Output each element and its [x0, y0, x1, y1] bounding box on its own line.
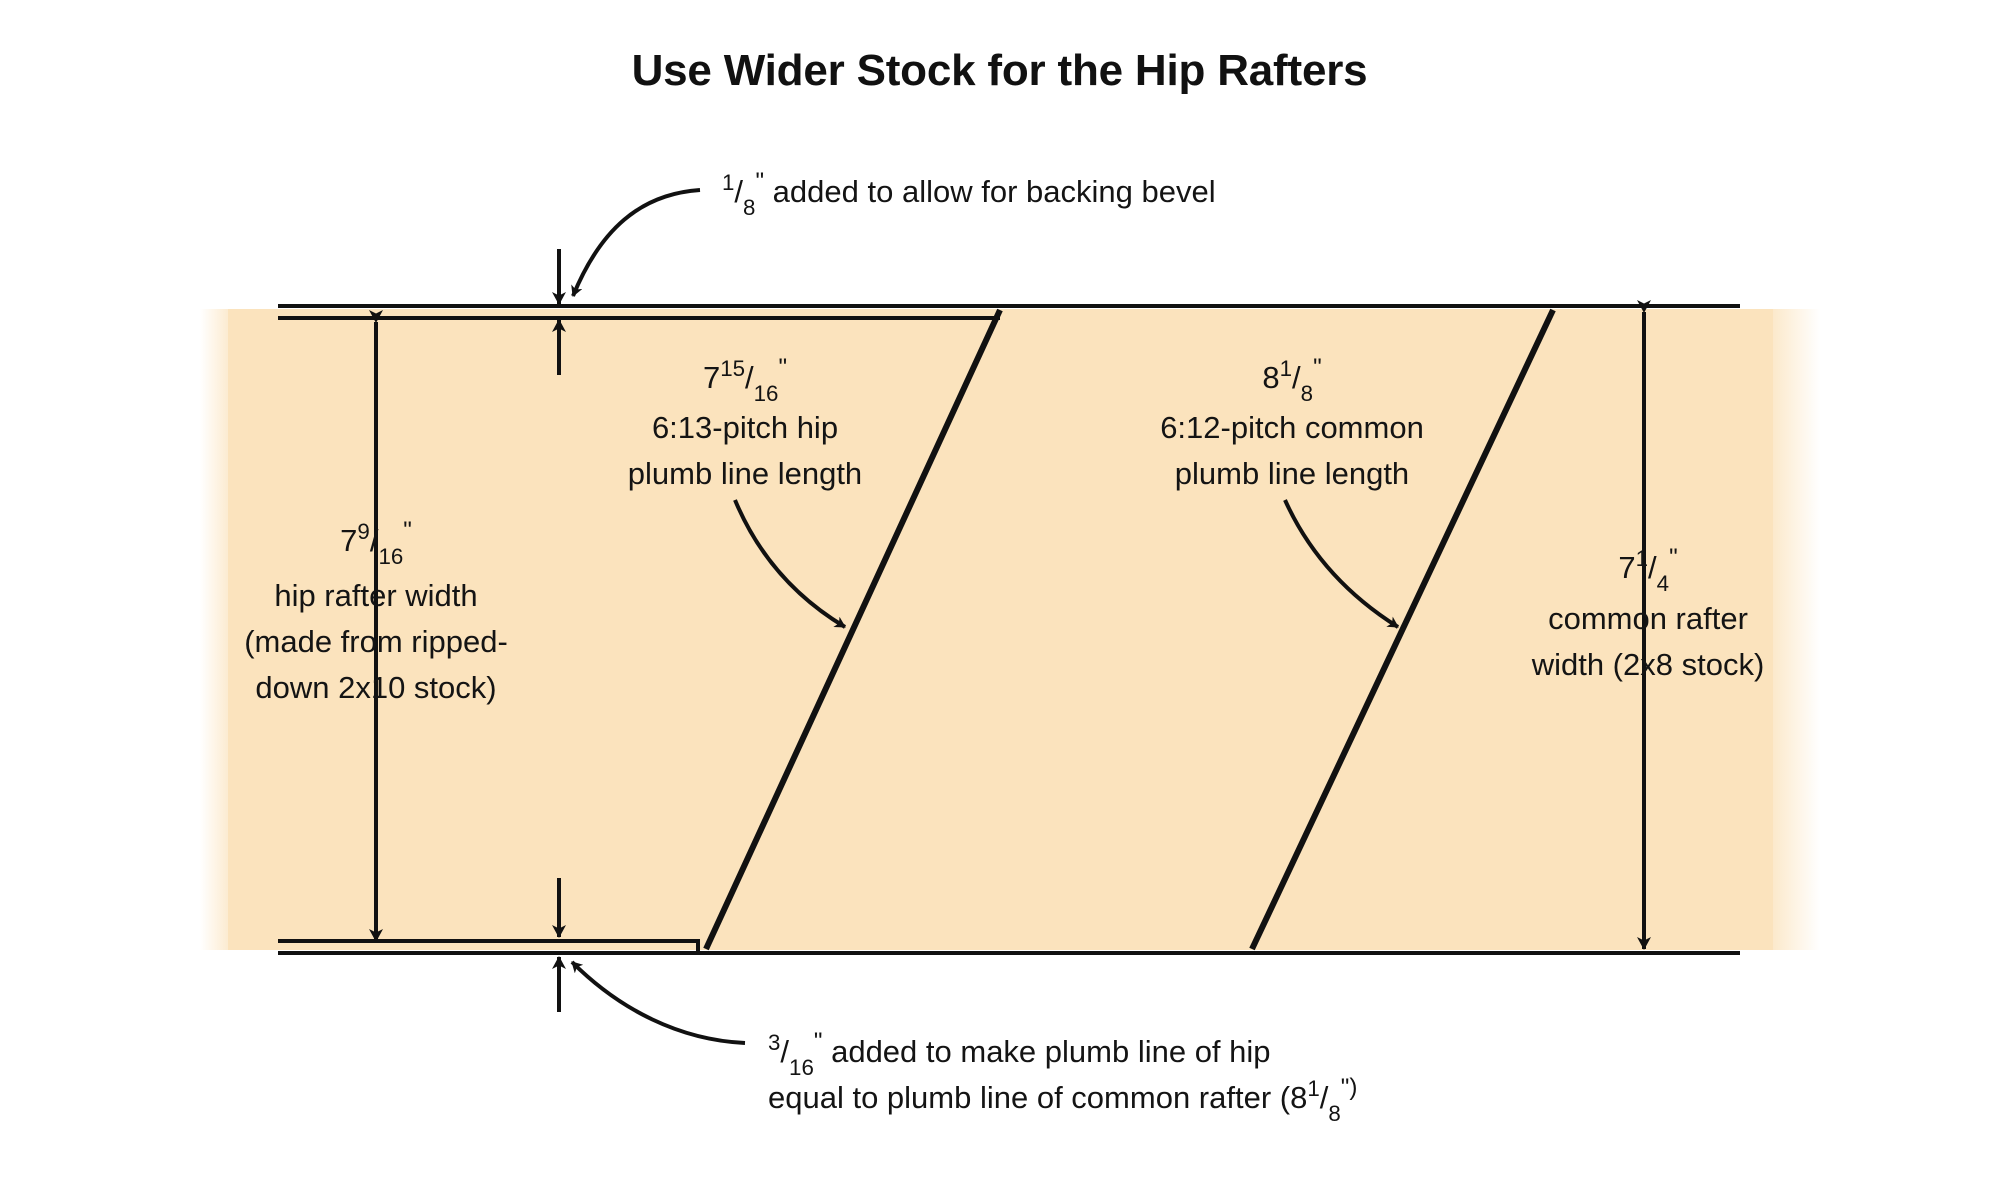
hip-plumb-line-2: plumb line length — [628, 456, 862, 491]
left-dim-whole: 7 — [340, 523, 357, 558]
top-note-unit: " — [755, 168, 764, 195]
board-fill-fade-right — [1760, 309, 1820, 950]
top-note-denominator: 8 — [743, 195, 755, 220]
left-dim-denominator: 16 — [378, 544, 403, 569]
common-plumb-unit: " — [1313, 354, 1322, 381]
hip-plumb-line-1: 6:13-pitch hip — [652, 410, 838, 445]
left-dim-unit: " — [403, 517, 412, 544]
right-dimension-line-1: common rafter — [1548, 601, 1748, 636]
hip-plumb-unit: " — [778, 354, 787, 381]
left-dimension-line-2: (made from ripped- — [244, 624, 508, 659]
bottom-note-line2-tail: ") — [1341, 1074, 1358, 1101]
hip-rafter-diagram: 1/8" added to allow for backing bevel 79… — [0, 0, 1999, 1187]
hip-plumb-numerator: 15 — [720, 356, 745, 381]
common-plumb-line-1: 6:12-pitch common — [1160, 410, 1424, 445]
right-dim-denominator: 4 — [1657, 571, 1669, 596]
bottom-note-line2-denominator: 8 — [1328, 1101, 1340, 1126]
bottom-note-line2-head: equal to plumb line of common rafter (8 — [768, 1080, 1307, 1115]
top-note-text: 1/8" added to allow for backing bevel — [722, 168, 1216, 220]
right-dimension-line-2: width (2x8 stock) — [1531, 647, 1765, 682]
bottom-note-body: added to make plumb line of hip — [822, 1034, 1270, 1069]
board-fill-fade-left — [200, 309, 240, 950]
left-dim-numerator: 9 — [357, 519, 369, 544]
hip-plumb-denominator: 16 — [754, 381, 779, 406]
hip-plumb-whole: 7 — [703, 360, 720, 395]
common-plumb-denominator: 8 — [1301, 381, 1313, 406]
bottom-note-numerator: 3 — [768, 1030, 780, 1055]
bottom-note-line-1: 3/16" added to make plumb line of hip — [768, 1028, 1271, 1080]
diagram-page: Use Wider Stock for the Hip Rafters — [0, 0, 1999, 1187]
common-plumb-line-2: plumb line length — [1175, 456, 1409, 491]
common-plumb-whole: 8 — [1262, 360, 1279, 395]
bottom-note-denominator: 16 — [789, 1055, 814, 1080]
bottom-note-line2-numerator: 1 — [1307, 1076, 1319, 1101]
bottom-note-unit: " — [814, 1028, 823, 1055]
right-dim-numerator: 1 — [1636, 546, 1648, 571]
top-note-body: added to allow for backing bevel — [764, 174, 1216, 209]
right-dim-whole: 7 — [1618, 550, 1635, 585]
common-plumb-numerator: 1 — [1280, 356, 1292, 381]
leader-bottom-note — [572, 962, 745, 1043]
bottom-note-line-2: equal to plumb line of common rafter (81… — [768, 1074, 1357, 1126]
left-dimension-line-1: hip rafter width — [274, 578, 477, 613]
right-dim-unit: " — [1669, 544, 1678, 571]
left-dimension-line-3: down 2x10 stock) — [255, 670, 496, 705]
leader-top-note — [573, 190, 700, 296]
top-note-numerator: 1 — [722, 170, 734, 195]
